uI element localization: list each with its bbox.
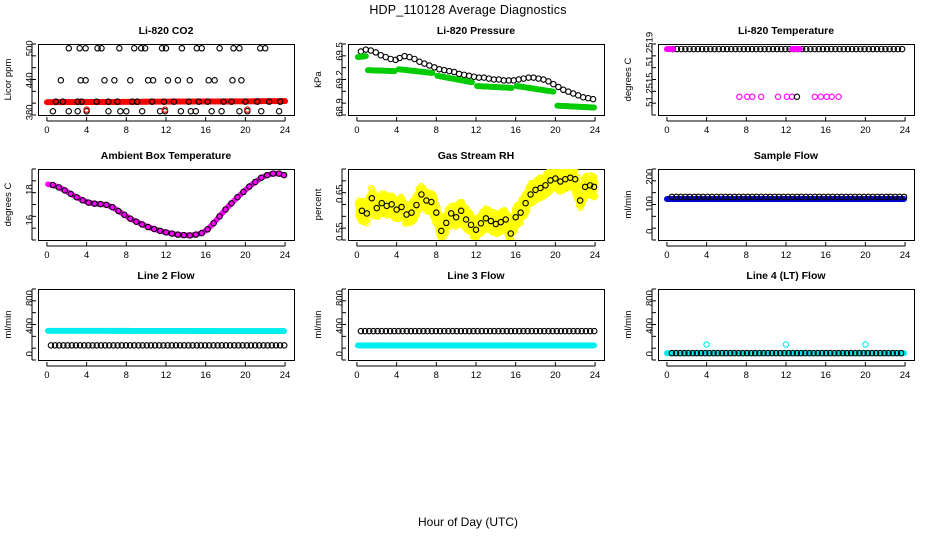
data-point xyxy=(812,94,817,99)
x-tick-label: 16 xyxy=(200,250,211,261)
data-point xyxy=(66,46,71,51)
x-tick-label: 8 xyxy=(744,250,749,261)
x-tick-label: 12 xyxy=(161,250,172,261)
data-point xyxy=(737,94,742,99)
panel-title: Li-820 Pressure xyxy=(437,25,515,37)
y-tick-label: 100 xyxy=(644,196,655,212)
data-point xyxy=(231,46,236,51)
data-point xyxy=(209,109,214,114)
x-tick-label: 4 xyxy=(704,370,709,381)
figure-title: HDP_110128 Average Diagnostics xyxy=(0,3,936,17)
panel-title: Gas Stream RH xyxy=(438,150,514,162)
x-tick-label: 12 xyxy=(781,250,792,261)
data-point xyxy=(206,78,211,83)
data-point xyxy=(230,78,235,83)
x-tick-label: 20 xyxy=(240,370,251,381)
trend-line xyxy=(48,174,284,236)
y-tick-label: 69.2 xyxy=(334,70,345,89)
data-layer xyxy=(45,46,288,114)
panel-line-2-flow: Line 2 Flow0400800ml/min04812162024 xyxy=(0,267,312,415)
data-point xyxy=(259,109,264,114)
data-point xyxy=(758,94,763,99)
panel-title: Li-820 CO2 xyxy=(139,25,194,37)
x-tick-label: 20 xyxy=(860,370,871,381)
data-point xyxy=(118,109,123,114)
x-tick-label: 20 xyxy=(550,250,561,261)
data-point xyxy=(276,109,281,114)
data-point xyxy=(102,78,107,83)
x-tick-label: 24 xyxy=(280,125,291,136)
y-axis-label: kPa xyxy=(313,71,324,88)
data-point xyxy=(142,46,147,51)
x-tick-label: 16 xyxy=(510,370,521,381)
plot-box xyxy=(39,290,295,361)
x-tick-label: 24 xyxy=(900,250,911,261)
x-tick-label: 16 xyxy=(820,250,831,261)
plot-box xyxy=(659,45,915,116)
data-point xyxy=(128,78,133,83)
x-tick-label: 16 xyxy=(820,370,831,381)
y-tick-label: 18 xyxy=(24,184,35,195)
x-tick-label: 24 xyxy=(280,250,291,261)
y-axis-label: ml/min xyxy=(623,311,634,339)
y-axis-label: percent xyxy=(313,188,324,220)
data-point xyxy=(50,109,55,114)
y-tick-label: 0.55 xyxy=(334,222,345,241)
data-point xyxy=(818,94,823,99)
x-tick-label: 0 xyxy=(354,370,359,381)
y-tick-label: 800 xyxy=(24,290,35,306)
x-tick-label: 20 xyxy=(860,125,871,136)
x-tick-label: 4 xyxy=(704,250,709,261)
x-tick-label: 0 xyxy=(664,370,669,381)
panel-title: Ambient Box Temperature xyxy=(101,150,232,162)
data-point xyxy=(163,46,168,51)
plot-box xyxy=(659,170,915,241)
x-tick-label: 12 xyxy=(161,370,172,381)
x-tick-label: 24 xyxy=(900,370,911,381)
x-tick-label: 24 xyxy=(280,370,291,381)
y-axis-label: ml/min xyxy=(313,311,324,339)
data-point xyxy=(237,109,242,114)
x-tick-label: 0 xyxy=(354,250,359,261)
x-tick-label: 12 xyxy=(781,125,792,136)
x-tick-label: 8 xyxy=(124,370,129,381)
y-tick-label: 500 xyxy=(24,40,35,56)
x-tick-label: 8 xyxy=(434,250,439,261)
x-tick-label: 24 xyxy=(590,370,601,381)
x-tick-label: 0 xyxy=(44,125,49,136)
panel-title: Line 2 Flow xyxy=(137,270,195,282)
y-tick-label: 440 xyxy=(24,72,35,88)
data-layer xyxy=(356,328,597,347)
data-point xyxy=(217,46,222,51)
x-tick-label: 4 xyxy=(84,125,89,136)
y-tick-label: 68.9 xyxy=(334,98,345,117)
data-layer xyxy=(46,328,287,348)
x-tick-label: 20 xyxy=(550,125,561,136)
x-tick-label: 4 xyxy=(394,370,399,381)
x-tick-label: 0 xyxy=(44,370,49,381)
x-tick-label: 8 xyxy=(434,125,439,136)
x-tick-label: 0 xyxy=(664,125,669,136)
data-point xyxy=(179,46,184,51)
data-layer xyxy=(48,171,287,238)
x-tick-label: 20 xyxy=(860,250,871,261)
x-tick-label: 0 xyxy=(354,125,359,136)
x-tick-label: 4 xyxy=(84,370,89,381)
panel-title: Line 4 (LT) Flow xyxy=(746,270,826,282)
data-point xyxy=(58,78,63,83)
data-point xyxy=(106,109,111,114)
y-axis-label: ml/min xyxy=(3,311,14,339)
x-tick-label: 20 xyxy=(550,370,561,381)
x-tick-label: 8 xyxy=(124,250,129,261)
y-tick-label: 0 xyxy=(644,229,655,234)
x-tick-label: 8 xyxy=(124,125,129,136)
x-tick-label: 12 xyxy=(471,370,482,381)
x-tick-label: 0 xyxy=(664,250,669,261)
y-axis-label: ml/min xyxy=(623,191,634,219)
y-tick-label: 400 xyxy=(24,318,35,334)
x-tick-label: 16 xyxy=(200,370,211,381)
data-layer xyxy=(355,166,598,245)
data-point xyxy=(178,109,183,114)
x-tick-label: 8 xyxy=(434,370,439,381)
x-tick-label: 16 xyxy=(510,125,521,136)
x-tick-label: 24 xyxy=(590,125,601,136)
data-point xyxy=(77,46,82,51)
data-point xyxy=(83,46,88,51)
data-point xyxy=(132,46,137,51)
data-point xyxy=(836,94,841,99)
data-point xyxy=(212,78,217,83)
x-tick-label: 8 xyxy=(744,125,749,136)
y-tick-label: 800 xyxy=(334,290,345,306)
data-point xyxy=(99,46,104,51)
x-tick-label: 4 xyxy=(704,125,709,136)
y-tick-label: 51.2519 xyxy=(644,32,655,66)
x-tick-label: 12 xyxy=(471,250,482,261)
x-tick-label: 12 xyxy=(471,125,482,136)
x-tick-label: 16 xyxy=(510,250,521,261)
data-point xyxy=(117,46,122,51)
plot-box xyxy=(349,290,605,361)
data-point xyxy=(775,94,780,99)
data-layer xyxy=(665,342,907,356)
y-tick-label: 400 xyxy=(334,318,345,334)
x-tick-label: 8 xyxy=(744,370,749,381)
y-tick-label: 400 xyxy=(644,318,655,334)
data-point xyxy=(139,109,144,114)
data-point xyxy=(165,78,170,83)
y-tick-label: 0 xyxy=(24,351,35,356)
y-tick-label: 51.2515 xyxy=(644,72,655,106)
x-tick-label: 24 xyxy=(590,250,601,261)
y-tick-label: 0 xyxy=(644,351,655,356)
data-point xyxy=(187,78,192,83)
x-tick-label: 16 xyxy=(200,125,211,136)
y-tick-label: 200 xyxy=(644,169,655,185)
y-tick-label: 0 xyxy=(334,351,345,356)
data-layer xyxy=(665,46,905,99)
data-layer xyxy=(356,47,597,110)
x-tick-label: 0 xyxy=(44,250,49,261)
x-tick-label: 4 xyxy=(394,125,399,136)
data-point xyxy=(112,78,117,83)
y-axis-label: Licor ppm xyxy=(3,59,14,101)
y-axis-label: degrees C xyxy=(3,182,14,226)
y-tick-label: 69.5 xyxy=(334,42,345,61)
diagnostics-figure: HDP_110128 Average Diagnostics Li-820 CO… xyxy=(0,0,936,540)
data-layer xyxy=(665,194,907,201)
x-tick-label: 12 xyxy=(161,125,172,136)
x-tick-label: 20 xyxy=(240,250,251,261)
x-tick-label: 12 xyxy=(781,370,792,381)
y-tick-label: 380 xyxy=(24,104,35,120)
panel-title: Sample Flow xyxy=(754,150,819,162)
x-tick-label: 4 xyxy=(84,250,89,261)
y-tick-label: 16 xyxy=(24,215,35,226)
data-point xyxy=(75,109,80,114)
x-tick-label: 16 xyxy=(820,125,831,136)
panel-title: Li-820 Temperature xyxy=(738,25,834,37)
y-tick-label: 800 xyxy=(644,290,655,306)
plot-box xyxy=(659,290,915,361)
data-point xyxy=(219,109,224,114)
y-axis-label: degrees C xyxy=(623,57,634,101)
data-point xyxy=(239,78,244,83)
data-point xyxy=(66,109,71,114)
data-point xyxy=(175,78,180,83)
panel-title: Line 3 Flow xyxy=(447,270,505,282)
x-tick-label: 24 xyxy=(900,125,911,136)
x-tick-label: 20 xyxy=(240,125,251,136)
data-point xyxy=(124,109,129,114)
x-tick-label: 4 xyxy=(394,250,399,261)
y-tick-label: 0.65 xyxy=(334,184,345,203)
data-point xyxy=(237,46,242,51)
panel-line-3-flow: Line 3 Flow0400800ml/min04812162024 xyxy=(310,267,622,415)
panel-line-4-lt-flow: Line 4 (LT) Flow0400800ml/min04812162024 xyxy=(620,267,932,415)
